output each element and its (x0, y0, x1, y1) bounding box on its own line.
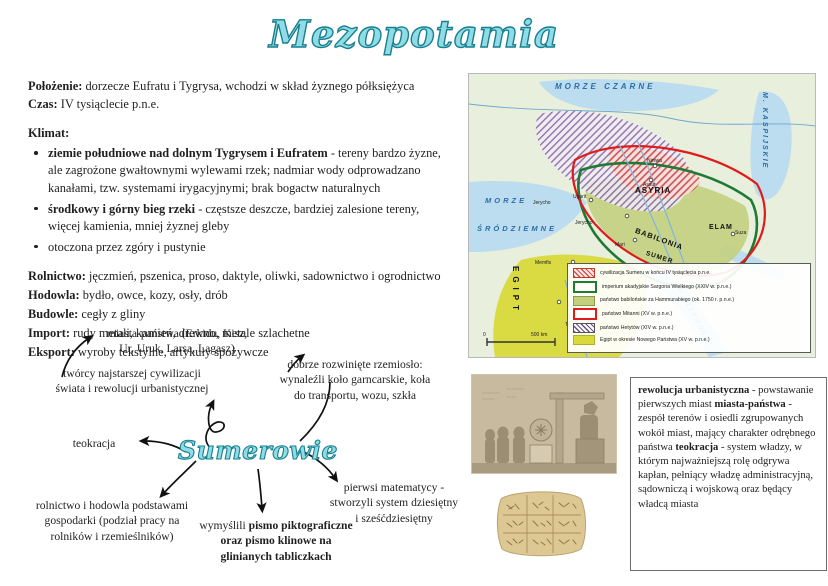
legend-row: imperium akadyjskie Sargona Wielkiego (X… (573, 281, 805, 293)
tablet-graphic (495, 487, 588, 560)
definitions-box: rewolucja urbanistyczna - powstawanie pi… (630, 377, 827, 571)
legend-row: Egipt w okresie Nowego Państwa (XV w. p.… (573, 335, 805, 345)
sumerian-relief-image (471, 374, 617, 474)
legend-swatch-icon (573, 281, 597, 293)
legend-row: państwo Mitanni (XV w. p.n.e.) (573, 308, 805, 320)
mindmap-center-label: Sumerowie (178, 436, 338, 465)
legend-label: imperium akadyjskie Sargona Wielkiego (X… (602, 284, 731, 291)
legend-swatch-icon (573, 335, 595, 345)
legend-swatch-icon (573, 268, 595, 278)
historical-map: MORZE CZARNE M. KASPIJSKIE MORZE ŚRÓDZIE… (468, 73, 816, 358)
legend-swatch-icon (573, 296, 595, 306)
legend-label: cywilizacja Sumeru w końcu IV tysiącleci… (600, 270, 711, 277)
definition-term: rewolucja urbanistyczna (638, 385, 749, 396)
definition-term: teokracja (675, 442, 718, 453)
mindmap-node-teokracja: teokracja (50, 436, 138, 451)
legend-swatch-icon (573, 308, 597, 320)
mindmap-node-rzemioslo: dobrze rozwinięte rzemiosło: wynaleźli k… (258, 357, 452, 403)
legend-row: państwo babilońskie za Hammurabiego (ok.… (573, 296, 805, 306)
notes-page: Mezopotamia Położenie: dorzecze Eufratu … (0, 0, 828, 586)
relief-graphic (472, 375, 616, 473)
legend-row: cywilizacja Sumeru w końcu IV tysiącleci… (573, 268, 805, 278)
clay-tablet-image (495, 487, 588, 560)
mindmap-node-miasta-panstwa: miasta-państwa (Erkidu, Kisz, Ur, Uruk, … (82, 326, 272, 357)
legend-label: państwo Hetytów (XIV w. p.n.e.) (600, 325, 674, 332)
legend-row: państwo Hetytów (XIV w. p.n.e.) (573, 323, 805, 333)
legend-swatch-icon (573, 323, 595, 333)
mindmap-node-pismo: wymyślili pismo piktograficzne oraz pism… (186, 518, 366, 564)
legend-label: państwo babilońskie za Hammurabiego (ok.… (600, 297, 734, 304)
mindmap-node-tworcy: twórcy najstarszej cywilizacji świata i … (24, 366, 240, 397)
pismo-prefix: wymyślili (199, 519, 248, 532)
mindmap-node-rolnictwo: rolnictwo i hodowla podstawami gospodark… (14, 498, 210, 544)
legend-label: Egipt w okresie Nowego Państwa (XV w. p.… (600, 337, 710, 344)
legend-label: państwo Mitanni (XV w. p.n.e.) (602, 311, 672, 318)
definition-term: miasta-państwa (715, 399, 786, 410)
map-legend: cywilizacja Sumeru w końcu IV tysiącleci… (567, 263, 811, 353)
